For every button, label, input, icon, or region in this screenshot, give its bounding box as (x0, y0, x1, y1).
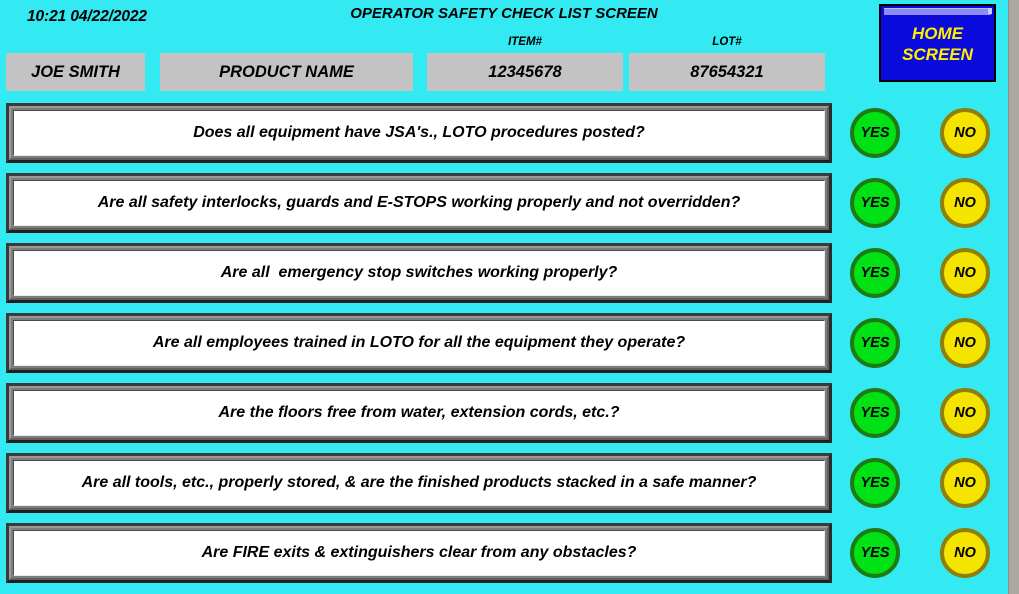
question-box-bevel: Does all equipment have JSA's., LOTO pro… (9, 106, 829, 160)
home-screen-button[interactable]: HOME SCREEN (879, 4, 996, 82)
home-screen-button-label: HOME SCREEN (881, 6, 994, 80)
question-box-bevel: Are all safety interlocks, guards and E-… (9, 176, 829, 230)
question-box-face: Are FIRE exits & extinguishers clear fro… (13, 530, 825, 576)
question-box-face: Does all equipment have JSA's., LOTO pro… (13, 110, 825, 156)
question-box: Are all tools, etc., properly stored, & … (6, 453, 832, 513)
question-box-bevel: Are all employees trained in LOTO for al… (9, 316, 829, 370)
question-box-face: Are all employees trained in LOTO for al… (13, 320, 825, 366)
question-text: Are all tools, etc., properly stored, & … (74, 474, 765, 492)
no-button-label: NO (954, 406, 976, 421)
question-box-bevel: Are the floors free from water, extensio… (9, 386, 829, 440)
no-button-label: NO (954, 476, 976, 491)
no-button-label: NO (954, 336, 976, 351)
window-edge-strip (1008, 0, 1019, 594)
operator-safety-checklist-screen: 10:21 04/22/2022 OPERATOR SAFETY CHECK L… (0, 0, 1019, 594)
yes-button[interactable]: YES (850, 458, 900, 508)
question-box-face: Are all tools, etc., properly stored, & … (13, 460, 825, 506)
no-button[interactable]: NO (940, 178, 990, 228)
question-box-face: Are all emergency stop switches working … (13, 250, 825, 296)
question-text: Does all equipment have JSA's., LOTO pro… (185, 124, 653, 142)
checklist-row: Are all safety interlocks, guards and E-… (0, 173, 1008, 233)
no-button[interactable]: NO (940, 108, 990, 158)
lot-number-field[interactable]: 87654321 (629, 53, 825, 91)
item-number-field[interactable]: 12345678 (427, 53, 623, 91)
yes-button[interactable]: YES (850, 178, 900, 228)
yes-button[interactable]: YES (850, 388, 900, 438)
yes-button[interactable]: YES (850, 108, 900, 158)
question-box: Does all equipment have JSA's., LOTO pro… (6, 103, 832, 163)
operator-name-field[interactable]: JOE SMITH (6, 53, 145, 91)
question-text: Are all employees trained in LOTO for al… (145, 334, 693, 352)
yes-button-label: YES (860, 196, 889, 211)
question-box-bevel: Are all tools, etc., properly stored, & … (9, 456, 829, 510)
no-button-label: NO (954, 196, 976, 211)
checklist-row: Are all emergency stop switches working … (0, 243, 1008, 303)
checklist-row: Are the floors free from water, extensio… (0, 383, 1008, 443)
product-name-field[interactable]: PRODUCT NAME (160, 53, 413, 91)
question-box-bevel: Are all emergency stop switches working … (9, 246, 829, 300)
question-box: Are all employees trained in LOTO for al… (6, 313, 832, 373)
no-button[interactable]: NO (940, 388, 990, 438)
question-text: Are all emergency stop switches working … (213, 264, 626, 282)
no-button-label: NO (954, 546, 976, 561)
question-box: Are FIRE exits & extinguishers clear fro… (6, 523, 832, 583)
no-button[interactable]: NO (940, 528, 990, 578)
yes-button[interactable]: YES (850, 318, 900, 368)
checklist-row: Are FIRE exits & extinguishers clear fro… (0, 523, 1008, 583)
checklist-row: Are all tools, etc., properly stored, & … (0, 453, 1008, 513)
yes-button-label: YES (860, 266, 889, 281)
no-button[interactable]: NO (940, 458, 990, 508)
no-button-label: NO (954, 266, 976, 281)
yes-button-label: YES (860, 476, 889, 491)
yes-button-label: YES (860, 126, 889, 141)
yes-button[interactable]: YES (850, 528, 900, 578)
checklist-row: Are all employees trained in LOTO for al… (0, 313, 1008, 373)
lot-number-label: LOT# (629, 36, 825, 48)
yes-button-label: YES (860, 406, 889, 421)
question-text: Are the floors free from water, extensio… (211, 404, 628, 422)
question-text: Are FIRE exits & extinguishers clear fro… (194, 544, 645, 562)
question-box: Are the floors free from water, extensio… (6, 383, 832, 443)
question-box-bevel: Are FIRE exits & extinguishers clear fro… (9, 526, 829, 580)
question-box: Are all emergency stop switches working … (6, 243, 832, 303)
page-title: OPERATOR SAFETY CHECK LIST SCREEN (0, 5, 1008, 22)
no-button-label: NO (954, 126, 976, 141)
no-button[interactable]: NO (940, 248, 990, 298)
question-box-face: Are the floors free from water, extensio… (13, 390, 825, 436)
checklist-row: Does all equipment have JSA's., LOTO pro… (0, 103, 1008, 163)
no-button[interactable]: NO (940, 318, 990, 368)
question-box-face: Are all safety interlocks, guards and E-… (13, 180, 825, 226)
question-box: Are all safety interlocks, guards and E-… (6, 173, 832, 233)
yes-button-label: YES (860, 336, 889, 351)
yes-button-label: YES (860, 546, 889, 561)
question-text: Are all safety interlocks, guards and E-… (90, 194, 749, 212)
yes-button[interactable]: YES (850, 248, 900, 298)
item-number-label: ITEM# (427, 36, 623, 48)
